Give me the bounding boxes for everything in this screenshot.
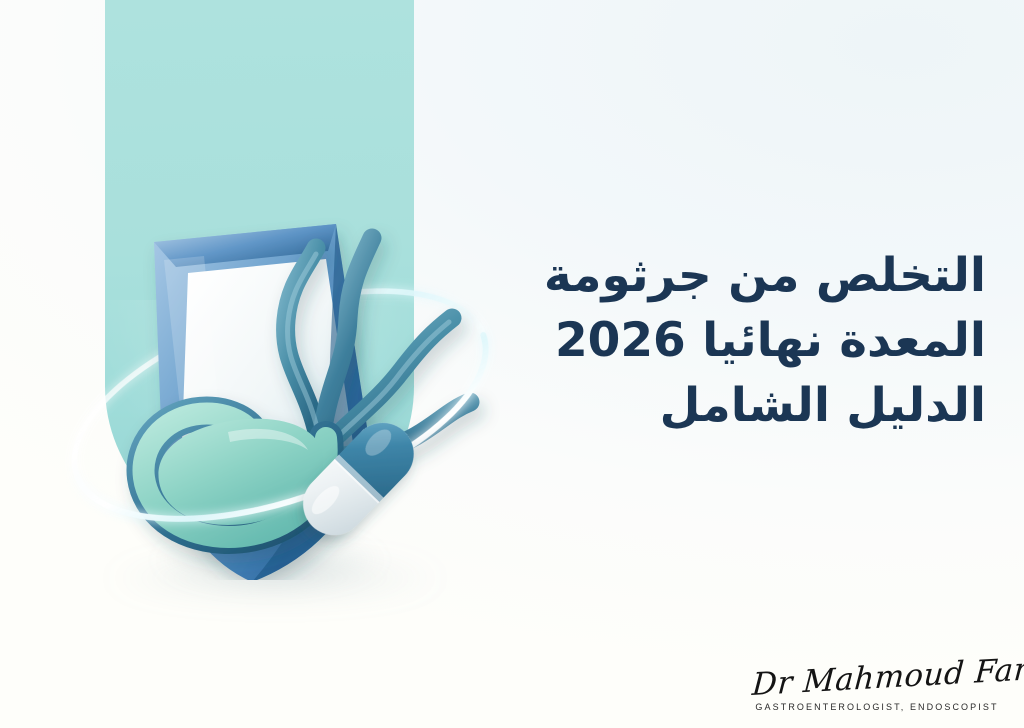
signature-name: Dr Mahmoud Farouk	[751, 655, 1003, 702]
h-pylori-shield-illustration	[30, 120, 540, 580]
headline-line-2: المعدة نهائيا 2026	[516, 309, 986, 374]
signature-role: GASTROENTEROLOGIST, ENDOSCOPIST	[752, 702, 1002, 712]
page-title: التخلص من جرثومة المعدة نهائيا 2026 الدل…	[516, 244, 986, 439]
headline-line-1: التخلص من جرثومة	[516, 244, 986, 309]
headline-line-3: الدليل الشامل	[516, 374, 986, 439]
doctor-signature-block: Dr Mahmoud Farouk GASTROENTEROLOGIST, EN…	[752, 662, 1002, 712]
banner-root: التخلص من جرثومة المعدة نهائيا 2026 الدل…	[0, 0, 1024, 728]
